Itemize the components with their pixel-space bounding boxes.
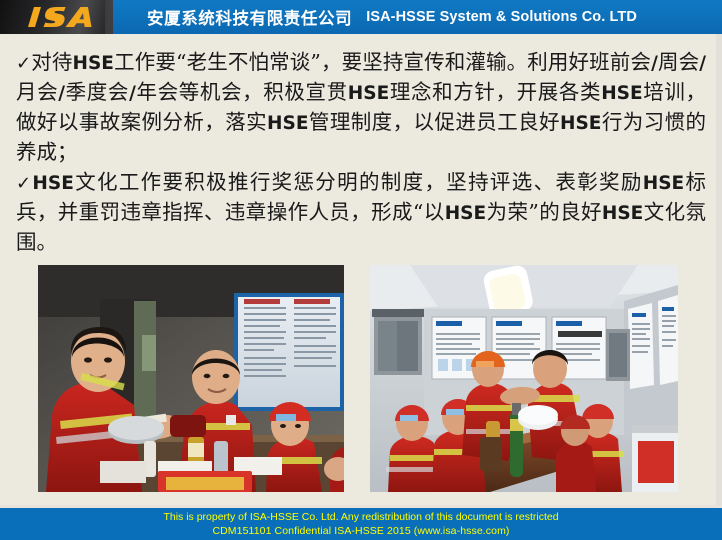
company-name-en: ISA-HSSE System & Solutions Co. LTD (366, 9, 637, 25)
company-name-cn: 安厦系统科技有限责任公司 (147, 5, 352, 29)
slide-right-edge (716, 34, 722, 508)
photo-team-meeting (370, 265, 678, 492)
bullet-paragraph-1: ✓对待HSE工作要“老生不怕常谈”，要坚持宣传和灌输。利用好班前会/周会/月会/… (16, 48, 706, 167)
inline-latin-text: / (699, 53, 706, 74)
bullet-check-icon: ✓ (16, 53, 31, 74)
inline-latin-text: HSE (267, 113, 308, 134)
photo-handshake-award (38, 265, 344, 492)
inline-latin-text: HSE (72, 53, 113, 74)
slide-content: ✓对待HSE工作要“老生不怕常谈”，要坚持宣传和灌输。利用好班前会/周会/月会/… (0, 34, 716, 508)
header-title-bar: 安厦系统科技有限责任公司 ISA-HSSE System & Solutions… (113, 0, 722, 34)
isa-logo-icon (24, 3, 96, 31)
inline-latin-text: / (129, 83, 136, 104)
inline-latin-text: HSE (560, 113, 601, 134)
inline-latin-text: HSE (602, 203, 643, 224)
bullet-paragraph-2: ✓HSE文化工作要积极推行奖惩分明的制度，坚持评选、表彰奖励HSE标兵，并重罚违… (16, 168, 706, 257)
presentation-slide: 安厦系统科技有限责任公司 ISA-HSSE System & Solutions… (0, 0, 722, 540)
inline-latin-text: / (651, 53, 658, 74)
footer-line-2: CDM151101 Confidential ISA-HSSE 2015 (ww… (212, 524, 509, 538)
inline-latin-text: HSE (445, 203, 486, 224)
bullet-check-icon: ✓ (16, 173, 32, 194)
inline-latin-text: / (58, 83, 65, 104)
slide-footer: This is property of ISA-HSSE Co. Ltd. An… (0, 508, 722, 540)
inline-latin-text: HSE (348, 83, 389, 104)
inline-latin-text: HSE (643, 173, 684, 194)
inline-latin-text: HSE (601, 83, 642, 104)
inline-latin-text: HSE (32, 173, 73, 194)
footer-line-1: This is property of ISA-HSSE Co. Ltd. An… (163, 510, 558, 524)
logo-panel (0, 0, 115, 34)
slide-header: 安厦系统科技有限责任公司 ISA-HSSE System & Solutions… (0, 0, 722, 34)
